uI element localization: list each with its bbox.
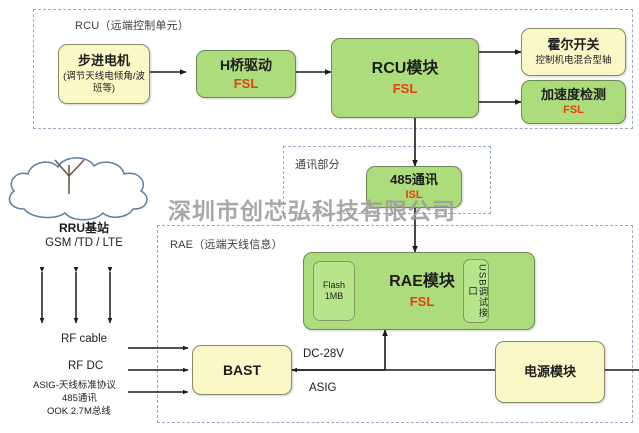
node-bast[interactable]: BAST <box>192 345 292 395</box>
cloud-link-arrows <box>42 272 110 323</box>
hall-switch-title: 霍尔开关 <box>547 37 599 52</box>
power-module-title: 电源模块 <box>524 364 576 379</box>
company-watermark: 深圳市创芯弘科技有限公司 <box>168 192 456 226</box>
node-usb-debug[interactable]: USB调试接口 <box>463 259 489 323</box>
usb-debug-title: USB调试接口 <box>466 260 487 322</box>
rru-cloud-line1: RRU基站 <box>20 219 148 236</box>
flash-subtitle: 1MB <box>325 291 344 302</box>
stepper-motor-title: 步进电机 <box>78 53 130 68</box>
flash-title: Flash <box>323 280 345 291</box>
bast-title: BAST <box>223 362 261 379</box>
label-ook-bus: OOK 2.7M总线 <box>47 403 111 417</box>
rru-cloud-line2: GSM /TD / LTE <box>20 237 148 249</box>
rcu-module-title: RCU模块 <box>372 60 439 79</box>
node-accel-detect[interactable]: 加速度检测 FSL <box>521 80 626 124</box>
rae-module-chip: FSL <box>410 294 435 309</box>
node-rcu-module[interactable]: RCU模块 FSL <box>331 38 479 118</box>
h-bridge-chip: FSL <box>234 76 259 91</box>
h-bridge-title: H桥驱动 <box>220 57 272 74</box>
rru-cloud-shape <box>9 158 147 220</box>
label-485-bus: 485通讯 <box>62 390 97 404</box>
rae-module-title: RAE模块 <box>389 273 455 292</box>
rcu-module-chip: FSL <box>393 81 418 96</box>
accel-detect-chip: FSL <box>563 104 584 117</box>
label-rf-cable: RF cable <box>61 333 107 345</box>
node-stepper-motor[interactable]: 步进电机 (调节天线电倾角/波班等) <box>58 44 150 104</box>
accel-detect-title: 加速度检测 <box>541 87 606 102</box>
label-asig: ASIG <box>309 382 336 394</box>
hall-switch-subtitle: 控制机电混合型轴 <box>531 55 615 67</box>
comm-485-title: 485通讯 <box>390 172 438 187</box>
node-flash[interactable]: Flash 1MB <box>313 261 355 321</box>
node-hall-switch[interactable]: 霍尔开关 控制机电混合型轴 <box>521 28 626 76</box>
label-rf-dc: RF DC <box>68 360 103 372</box>
node-h-bridge[interactable]: H桥驱动 FSL <box>196 50 296 98</box>
group-comm-label: 通讯部分 <box>295 156 340 172</box>
rru-cloud-label: RRU基站 GSM /TD / LTE <box>20 219 148 249</box>
stepper-motor-subtitle: (调节天线电倾角/波班等) <box>59 71 149 95</box>
label-dc-28v: DC-28V <box>303 348 344 360</box>
diagram-canvas: RCU（远端控制单元） 通讯部分 RAE（远端天线信息） <box>0 0 639 433</box>
group-rae-label: RAE（远端天线信息） <box>170 236 283 252</box>
label-asig-protocol: ASIG-天线标准协议 <box>33 377 116 391</box>
group-rcu-label: RCU（远端控制单元） <box>75 17 189 33</box>
antenna-icon <box>55 160 84 194</box>
node-power-module[interactable]: 电源模块 <box>495 341 605 403</box>
